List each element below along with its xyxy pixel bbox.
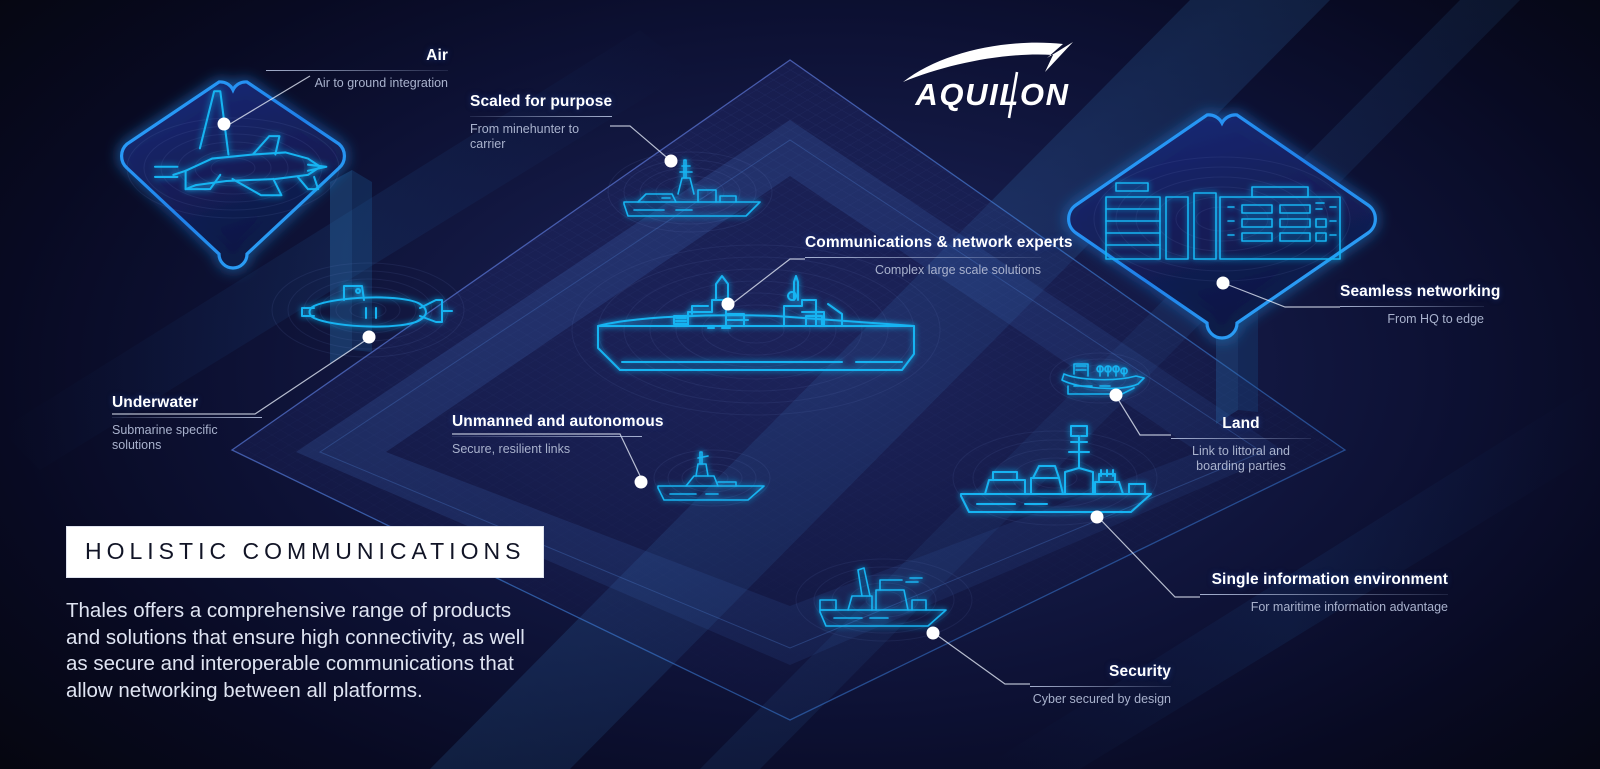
callout-scaled-subtitle: From minehunter to carrier [470, 122, 612, 152]
callout-security-rule [1030, 686, 1171, 687]
callout-security[interactable]: Security Cyber secured by design [1030, 662, 1171, 707]
callout-sie-rule [1200, 594, 1448, 595]
callout-comms-title: Communications & network experts [805, 233, 1041, 252]
leader-security [934, 633, 1030, 684]
callout-underwater-rule [112, 417, 262, 418]
callout-unmanned-rule [452, 436, 642, 437]
infographic-canvas: .ln{fill:none;stroke:#18b4f2;stroke-widt… [0, 0, 1600, 769]
leader-seamless [1226, 284, 1340, 307]
leader-sie [1099, 518, 1200, 597]
aquilon-logo: AQUILON [895, 42, 1090, 120]
callout-seamless-subtitle: From HQ to edge [1340, 312, 1484, 327]
callout-communications-network-experts[interactable]: Communications & network experts Complex… [805, 233, 1041, 278]
callout-single-information-environment[interactable]: Single information environment For marit… [1200, 570, 1448, 615]
leader-scaled [610, 126, 671, 161]
callout-underwater-subtitle: Submarine specific solutions [112, 423, 262, 453]
callout-underwater-title: Underwater [112, 393, 262, 412]
callout-land[interactable]: Land Link to littoral and boarding parti… [1171, 414, 1311, 474]
callout-unmanned-title: Unmanned and autonomous [452, 412, 642, 431]
callout-sie-title: Single information environment [1200, 570, 1448, 589]
callout-scaled-title: Scaled for purpose [470, 92, 612, 111]
callout-underwater[interactable]: Underwater Submarine specific solutions [112, 393, 262, 453]
body-paragraph: Thales offers a comprehensive range of p… [66, 598, 526, 704]
callout-air-title: Air [266, 46, 448, 65]
leader-comms [733, 259, 805, 303]
callout-security-title: Security [1030, 662, 1171, 681]
callout-scaled-for-purpose[interactable]: Scaled for purpose From minehunter to ca… [470, 92, 612, 152]
headline-panel: HOLISTIC COMMUNICATIONS [66, 526, 544, 578]
callout-land-rule [1171, 438, 1311, 439]
callout-unmanned-and-autonomous[interactable]: Unmanned and autonomous Secure, resilien… [452, 412, 642, 457]
callout-security-subtitle: Cyber secured by design [1030, 692, 1171, 707]
callout-seamless-networking[interactable]: Seamless networking From HQ to edge [1340, 282, 1484, 327]
callout-seamless-title: Seamless networking [1340, 282, 1484, 301]
callout-air-rule [266, 70, 448, 71]
callout-unmanned-subtitle: Secure, resilient links [452, 442, 642, 457]
callout-seamless-rule [1340, 306, 1484, 307]
callout-land-subtitle: Link to littoral and boarding parties [1171, 444, 1311, 474]
callout-air-subtitle: Air to ground integration [266, 76, 448, 91]
callout-comms-rule [805, 257, 1041, 258]
leader-land [1116, 396, 1171, 435]
callout-scaled-rule [470, 116, 612, 117]
logo-wordmark: AQUILON [895, 78, 1090, 112]
page-title: HOLISTIC COMMUNICATIONS [85, 538, 525, 564]
callout-land-title: Land [1171, 414, 1311, 433]
callout-sie-subtitle: For maritime information advantage [1200, 600, 1448, 615]
callout-air[interactable]: Air Air to ground integration [266, 46, 448, 91]
callout-comms-subtitle: Complex large scale solutions [805, 263, 1041, 278]
